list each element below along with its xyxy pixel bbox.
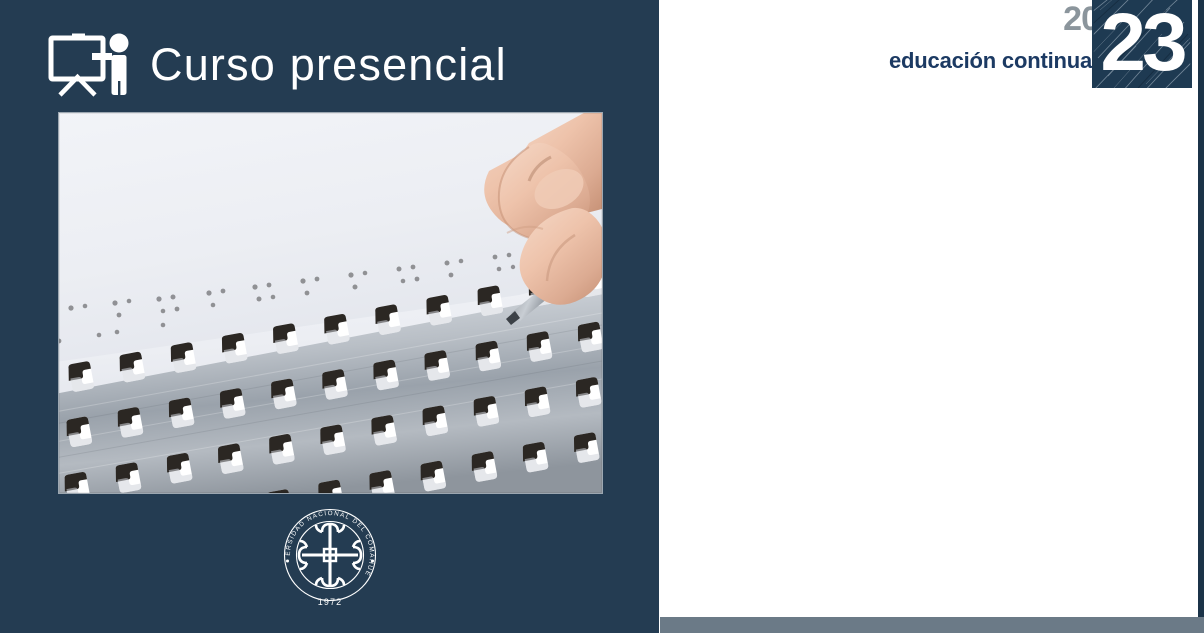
left-navy-panel: Curso presencial [0,0,659,633]
course-type-header: Curso presencial [48,31,507,97]
year-badge: 23 [1092,0,1192,88]
seal-year: 1972 [317,597,341,607]
course-photo [59,113,602,493]
course-type-label: Curso presencial [150,42,507,87]
brand-label: educación continua [889,50,1092,72]
presenter-whiteboard-icon [48,31,138,97]
bottom-accent-bar [660,617,1204,633]
right-content-panel: educación continua 20 [659,0,1204,633]
course-poster: Curso presencial [0,0,1204,633]
right-edge-rule [1198,0,1204,618]
university-seal: UNIVERSIDAD NACIONAL DEL COMAHUE [0,505,659,610]
